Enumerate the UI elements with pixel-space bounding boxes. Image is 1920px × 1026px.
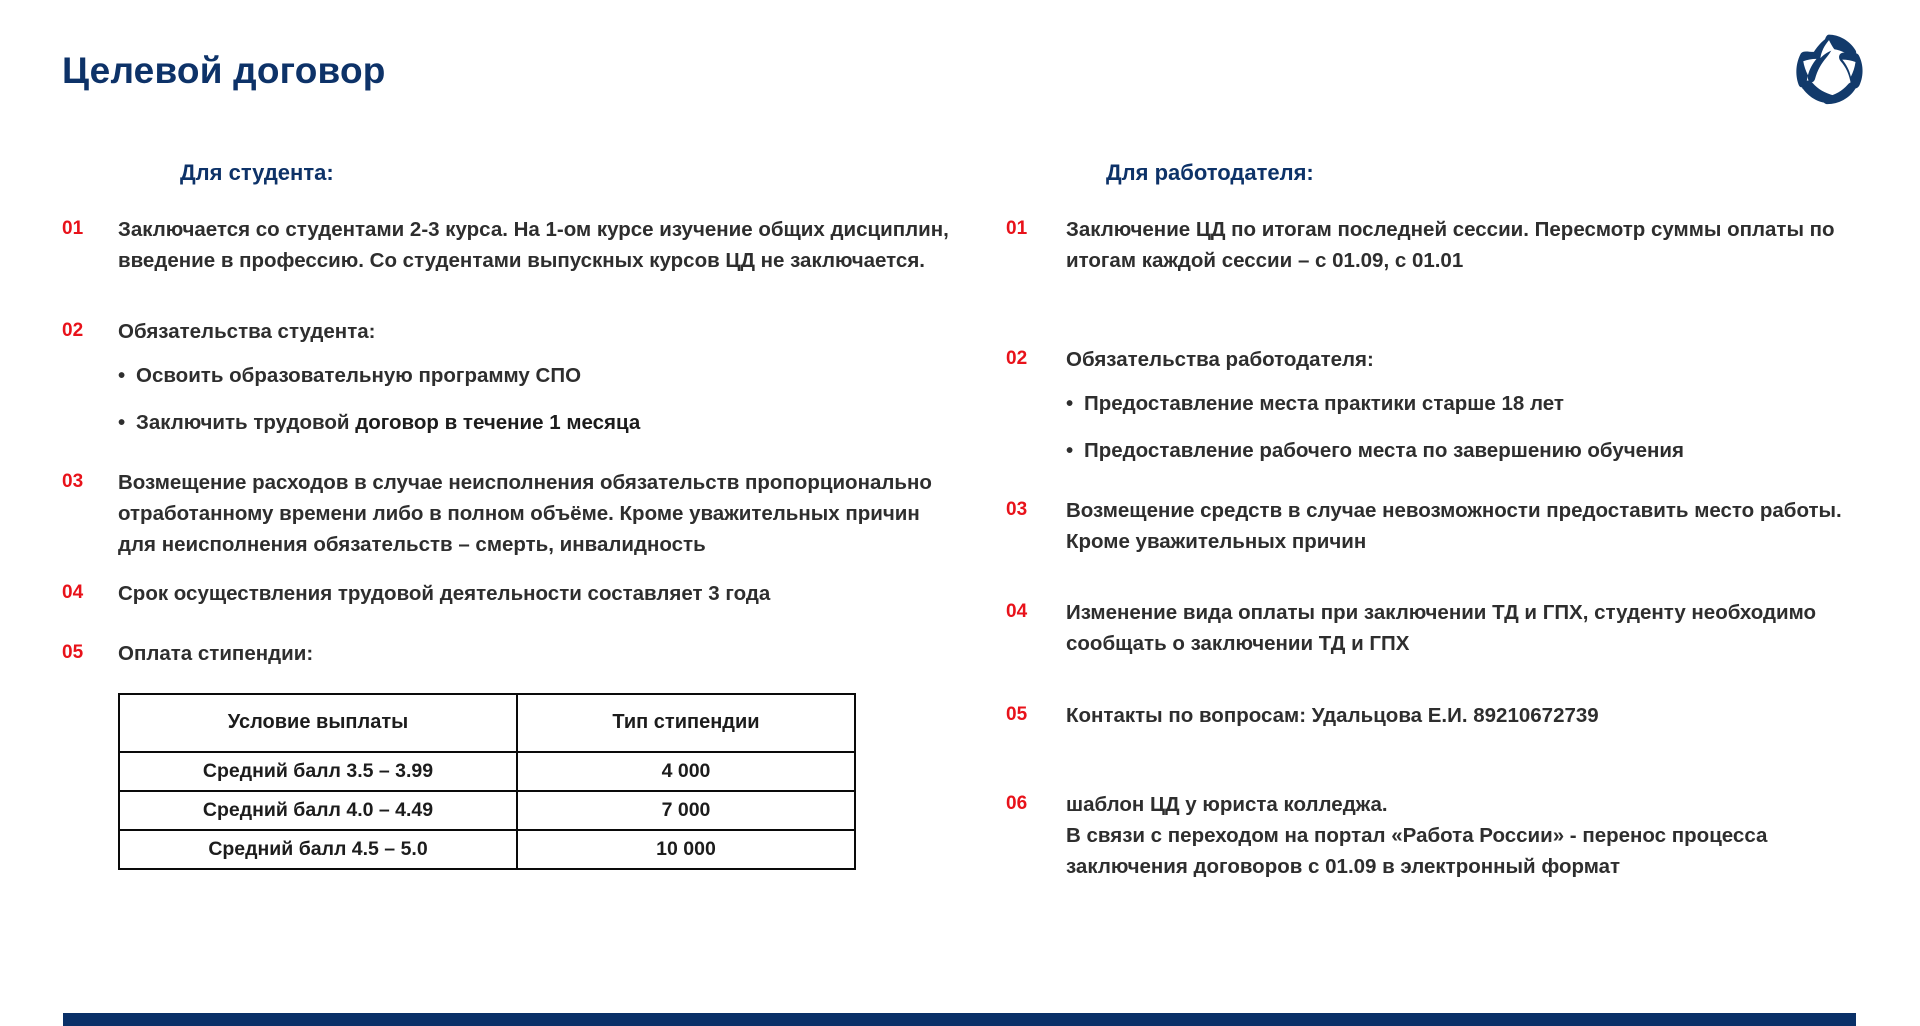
item-text: Возмещение средств в случае невозможност… (1066, 495, 1886, 557)
footer-accent-bar (63, 1013, 1856, 1026)
bullet-bold-text: договор в течение 1 месяца (355, 411, 640, 434)
spacer (1006, 276, 1886, 316)
column-header-type: Тип стипендии (517, 694, 855, 752)
cell-condition: Средний балл 4.0 – 4.49 (119, 791, 517, 830)
list-item: 05 Оплата стипендии: (62, 638, 962, 669)
item-number: 02 (62, 316, 118, 346)
item-number: 04 (62, 578, 118, 608)
spacer (1006, 316, 1886, 344)
student-column-heading: Для студента: (180, 160, 962, 186)
item-text: Оплата стипендии: (118, 638, 962, 669)
table-row: Средний балл 4.0 – 4.49 7 000 (119, 791, 855, 830)
table-row: Средний балл 3.5 – 3.99 4 000 (119, 752, 855, 791)
list-item: 02 Обязательства работодателя: Предостав… (1006, 344, 1886, 467)
list-item: Заключить трудовой договор в течение 1 м… (118, 408, 962, 439)
item-number: 03 (62, 467, 118, 497)
item-text: Контакты по вопросам: Удальцова Е.И. 892… (1066, 700, 1886, 731)
item-text: Обязательства студента: Освоить образова… (118, 316, 962, 439)
list-item: Предоставление места практики старше 18 … (1066, 389, 1886, 420)
spacer (62, 276, 962, 316)
list-item: Освоить образовательную программу СПО (118, 361, 962, 392)
spacer (1006, 660, 1886, 700)
spacer (62, 560, 962, 578)
item-text: Возмещение расходов в случае неисполнени… (118, 467, 962, 560)
list-item: 06 шаблон ЦД у юриста колледжа. В связи … (1006, 789, 1886, 882)
page-title: Целевой договор (62, 50, 386, 92)
item-extra-text: В связи с переходом на портал «Работа Ро… (1066, 820, 1886, 882)
item-text: Заключается со студентами 2-3 курса. На … (118, 214, 962, 276)
sub-bullet-list: Предоставление места практики старше 18 … (1066, 389, 1886, 467)
spacer (1006, 771, 1886, 789)
slide-canvas: Целевой договор Для студента: 01 (0, 0, 1920, 1026)
list-item: 03 Возмещение расходов в случае неисполн… (62, 467, 962, 560)
list-item: 01 Заключение ЦД по итогам последней сес… (1006, 214, 1886, 276)
item-number: 06 (1006, 789, 1066, 819)
cell-condition: Средний балл 3.5 – 3.99 (119, 752, 517, 791)
student-column: Для студента: 01 Заключается со студента… (62, 160, 962, 870)
table-header-row: Условие выплаты Тип стипендии (119, 694, 855, 752)
spacer (1006, 557, 1886, 597)
item-number: 04 (1006, 597, 1066, 627)
bullet-lead-text: Освоить образовательную программу СПО (136, 364, 581, 387)
item-number: 03 (1006, 495, 1066, 525)
sub-bullet-list: Освоить образовательную программу СПО За… (118, 361, 962, 439)
list-item: Предоставление рабочего места по заверше… (1066, 436, 1886, 467)
item-text: Заключение ЦД по итогам последней сессии… (1066, 214, 1886, 276)
item-number: 02 (1006, 344, 1066, 374)
bullet-lead-text: Заключить трудовой (136, 411, 355, 434)
cell-amount: 4 000 (517, 752, 855, 791)
list-item: 03 Возмещение средств в случае невозможн… (1006, 495, 1886, 557)
item-text: шаблон ЦД у юриста колледжа. В связи с п… (1066, 789, 1886, 882)
cell-amount: 7 000 (517, 791, 855, 830)
list-item: 04 Срок осуществления трудовой деятельно… (62, 578, 962, 609)
spacer (1006, 731, 1886, 771)
employer-column-heading: Для работодателя: (1106, 160, 1886, 186)
item-number: 05 (62, 638, 118, 668)
stipend-table: Условие выплаты Тип стипендии Средний ба… (118, 693, 856, 870)
trefoil-logo (1790, 30, 1868, 108)
cell-amount: 10 000 (517, 830, 855, 869)
column-header-condition: Условие выплаты (119, 694, 517, 752)
item-number: 01 (1006, 214, 1066, 244)
list-item: 05 Контакты по вопросам: Удальцова Е.И. … (1006, 700, 1886, 731)
item-text: Изменение вида оплаты при заключении ТД … (1066, 597, 1886, 659)
bullet-lead-text: Предоставление рабочего места по заверше… (1084, 439, 1684, 462)
spacer (62, 439, 962, 467)
cell-condition: Средний балл 4.5 – 5.0 (119, 830, 517, 869)
list-item: 01 Заключается со студентами 2-3 курса. … (62, 214, 962, 276)
table-row: Средний балл 4.5 – 5.0 10 000 (119, 830, 855, 869)
stipend-table-wrapper: Условие выплаты Тип стипендии Средний ба… (118, 693, 962, 870)
spacer (1006, 467, 1886, 495)
list-item: 02 Обязательства студента: Освоить образ… (62, 316, 962, 439)
item-number: 01 (62, 214, 118, 244)
employer-column: Для работодателя: 01 Заключение ЦД по ит… (1006, 160, 1886, 882)
list-item: 04 Изменение вида оплаты при заключении … (1006, 597, 1886, 659)
item-text: Обязательства работодателя: Предоставлен… (1066, 344, 1886, 467)
item-text: Срок осуществления трудовой деятельности… (118, 578, 962, 609)
bullet-lead-text: Предоставление места практики старше 18 … (1084, 392, 1564, 415)
item-number: 05 (1006, 700, 1066, 730)
spacer (62, 610, 962, 638)
